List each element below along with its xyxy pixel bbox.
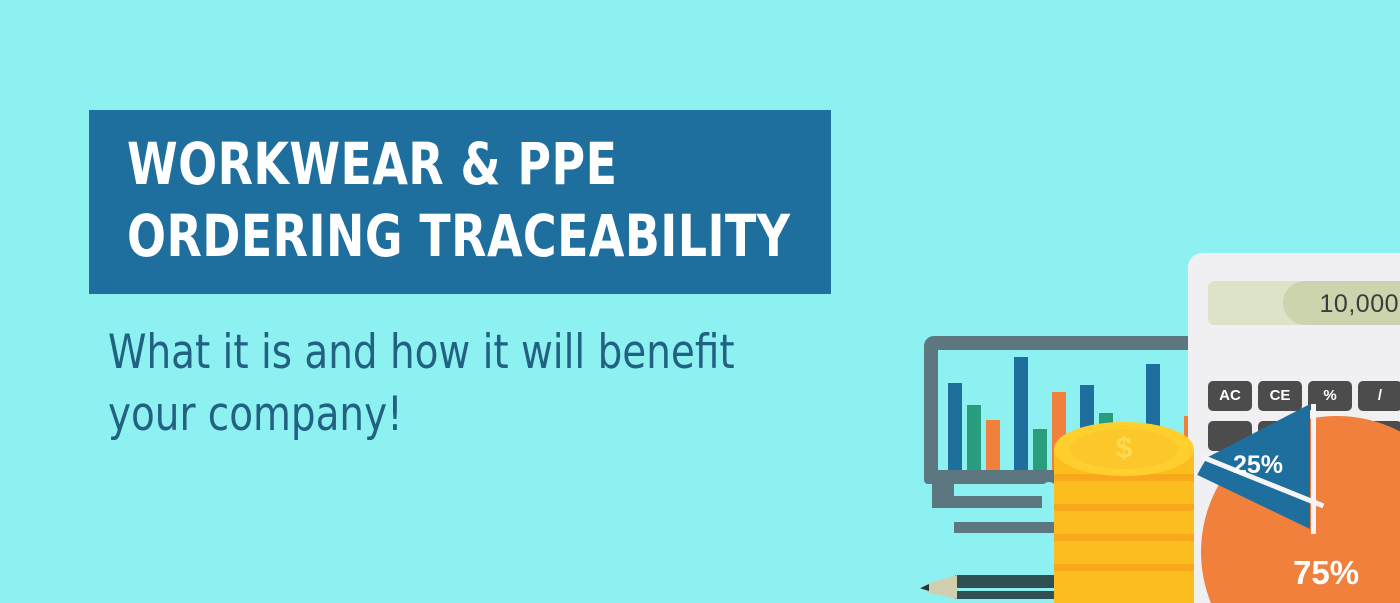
bar-chart-bar <box>1033 429 1047 470</box>
coin-edge <box>1054 564 1194 571</box>
headline-banner: WORKWEAR & PPE ORDERING TRACEABILITY <box>89 110 831 294</box>
currency-symbol-icon: $ <box>1092 434 1156 464</box>
coin-stack-illustration: $ <box>1054 422 1194 603</box>
coin-top-face: $ <box>1054 422 1194 476</box>
promo-banner: WORKWEAR & PPE ORDERING TRACEABILITY Wha… <box>0 0 1400 603</box>
headline-line-2: ORDERING TRACEABILITY <box>127 200 747 272</box>
bar-chart-bar <box>986 420 1000 470</box>
pie-chart: 25% 75% <box>1185 404 1400 603</box>
bar-chart-bar <box>967 405 981 470</box>
calculator-display-value: 10,000 <box>1320 290 1399 319</box>
pie-label-orange: 75% <box>1293 554 1359 592</box>
pencil-graphite-tip <box>920 584 929 591</box>
subtitle-text: What it is and how it will benefit your … <box>108 322 807 446</box>
pie-slice-divider <box>1311 404 1316 534</box>
coin-edge <box>1054 504 1194 511</box>
pencil-wood-tip <box>925 575 957 599</box>
bar-chart-bar <box>948 383 962 470</box>
calculator-display: 10,000 <box>1208 281 1400 325</box>
headline-line-1: WORKWEAR & PPE <box>127 128 747 200</box>
pie-label-blue: 25% <box>1233 451 1283 480</box>
bar-chart-bar <box>1014 357 1028 470</box>
coin-edge <box>1054 534 1194 541</box>
monitor-arm <box>932 496 1042 508</box>
